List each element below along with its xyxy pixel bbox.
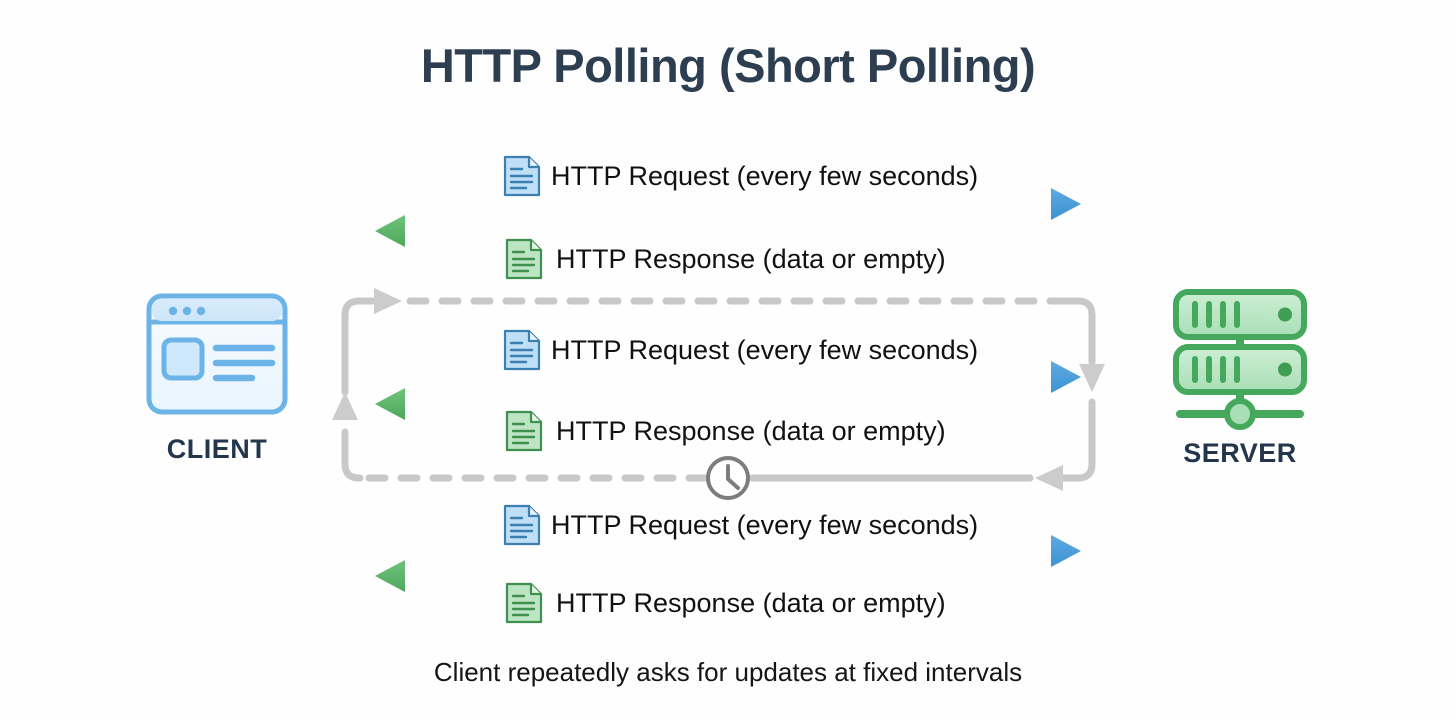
message-label-6: HTTP Response (data or empty) [556,588,946,619]
client-label: CLIENT [147,434,287,465]
message-label-3: HTTP Request (every few seconds) [551,335,978,366]
document-blue-icon-2 [503,329,541,371]
diagram-caption: Client repeatedly asks for updates at fi… [0,657,1456,688]
message-label-5: HTTP Request (every few seconds) [551,510,978,541]
server-label: SERVER [1170,438,1310,469]
loop-arrowhead-left-up [332,392,358,420]
loop-arrowhead-bottom-left [1035,465,1063,491]
loop-path-right-upper [1062,301,1092,362]
loop-path-top [345,301,372,392]
loop-path-bottom-left [345,432,360,478]
message-label-4: HTTP Response (data or empty) [556,416,946,447]
browser-window-icon [149,296,285,412]
document-blue-icon-1 [503,155,541,197]
document-green-icon-1 [505,238,543,280]
page-title: HTTP Polling (Short Polling) [0,38,1456,93]
document-blue-icon-3 [503,504,541,546]
document-green-icon-2 [505,410,543,452]
message-label-1: HTTP Request (every few seconds) [551,161,978,192]
loop-arrowhead-top-right [374,288,402,314]
document-green-icon-3 [505,582,543,624]
request-arrow-1 [376,188,1081,220]
message-label-2: HTTP Response (data or empty) [556,244,946,275]
diagram-canvas: HTTP Polling (Short Polling) [0,0,1456,720]
loop-arrowhead-right-down [1079,364,1105,392]
loop-path-right-lower [1064,402,1092,478]
server-rack-icon [1176,292,1304,427]
response-arrow-1 [375,215,1080,247]
clock-icon [708,458,748,498]
